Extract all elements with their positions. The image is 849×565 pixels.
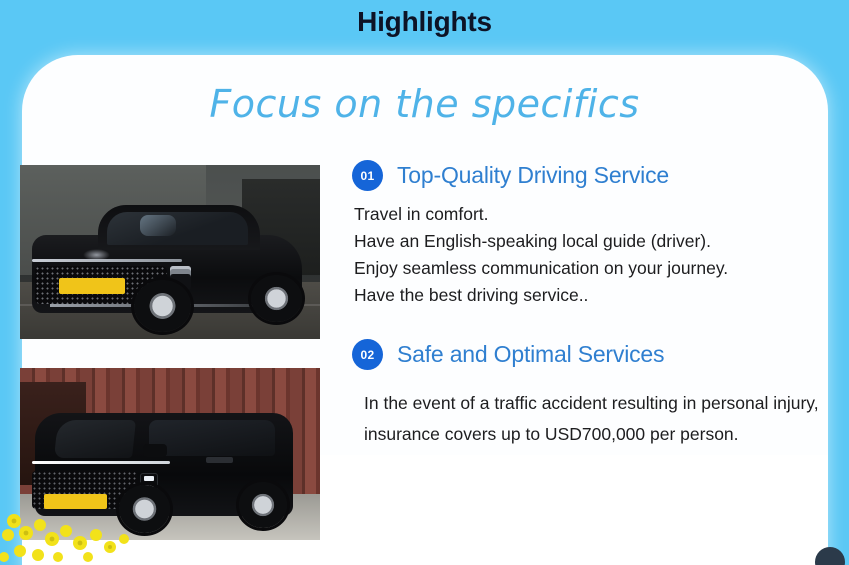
content-column: 01 Top-Quality Driving Service Travel in… <box>352 160 832 450</box>
card-heading: Focus on the specifics <box>0 82 849 126</box>
van-rear-wheel <box>239 482 287 528</box>
page-title: Highlights <box>0 6 849 38</box>
highlight-2-body: In the event of a traffic accident resul… <box>364 388 832 450</box>
sedan-photo <box>20 165 320 339</box>
highlight-item-2: 02 Safe and Optimal Services In the even… <box>352 339 832 450</box>
sedan-window-highlight <box>140 215 176 236</box>
van-photo <box>20 368 320 540</box>
highlight-2-title: Safe and Optimal Services <box>397 341 664 368</box>
highlight-1-line-3: Enjoy seamless communication on your jou… <box>354 255 832 282</box>
highlight-1-line-2: Have an English-speaking local guide (dr… <box>354 228 832 255</box>
van-front-wheel <box>119 485 170 533</box>
sedan-chrome-trim <box>32 259 182 262</box>
highlight-item-1: 01 Top-Quality Driving Service Travel in… <box>352 160 832 309</box>
slide-root: Highlights Focus on the specifics <box>0 0 849 565</box>
badge-02: 02 <box>352 339 383 370</box>
van-side-mirror <box>143 444 167 458</box>
van-license-plate <box>44 494 107 509</box>
badge-01: 01 <box>352 160 383 191</box>
sedan-emblem <box>83 249 110 261</box>
van-door-handle <box>206 457 233 462</box>
sedan-scene <box>20 165 320 339</box>
van-windshield <box>54 420 136 458</box>
sedan-windows <box>107 212 248 245</box>
corner-dot-decoration <box>815 547 845 565</box>
sedan-license-plate <box>59 278 125 294</box>
van-light-bar <box>32 461 170 464</box>
sedan-rear-wheel <box>251 275 302 322</box>
van-side-windows <box>149 420 275 456</box>
highlight-2-header: 02 Safe and Optimal Services <box>352 339 832 370</box>
highlight-1-header: 01 Top-Quality Driving Service <box>352 160 832 191</box>
sedan-front-wheel <box>134 280 191 332</box>
highlight-1-line-4: Have the best driving service.. <box>354 282 832 309</box>
highlight-1-body: Travel in comfort. Have an English-speak… <box>354 201 832 309</box>
highlight-2-line-1: In the event of a traffic accident resul… <box>364 388 832 450</box>
highlight-1-line-1: Travel in comfort. <box>354 201 832 228</box>
highlight-1-title: Top-Quality Driving Service <box>397 162 669 189</box>
van-scene <box>20 368 320 540</box>
